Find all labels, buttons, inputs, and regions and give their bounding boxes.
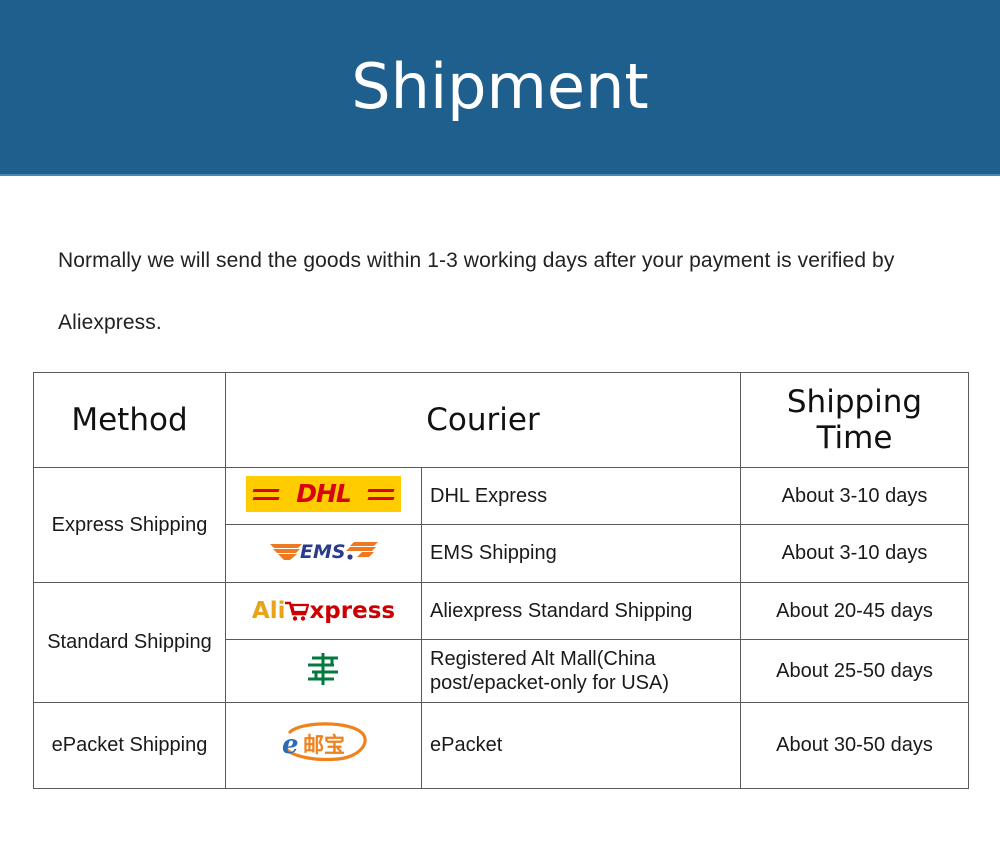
courier-name: Registered Alt Mall(China post/epacket-o…	[422, 640, 741, 703]
china-post-logo-cell	[226, 640, 422, 703]
shopping-cart-icon	[285, 600, 309, 622]
shipping-time: About 3-10 days	[741, 468, 969, 525]
page-title: Shipment	[351, 56, 648, 118]
method-express-shipping: Express Shipping	[34, 468, 226, 583]
table-row: Express Shipping DHL DHL Express About 3…	[34, 468, 969, 525]
aliexpress-logo-cell: Ali xpress	[226, 583, 422, 640]
column-header-method: Method	[34, 373, 226, 468]
method-epacket-shipping: ePacket Shipping	[34, 703, 226, 789]
page-banner: Shipment	[0, 0, 1000, 176]
method-standard-shipping: Standard Shipping	[34, 583, 226, 703]
shipping-time: About 25-50 days	[741, 640, 969, 703]
china-post-logo	[302, 649, 346, 689]
china-post-icon	[302, 649, 346, 689]
epacket-logo: e 邮宝	[272, 719, 376, 767]
dhl-logo-text: DHL	[246, 476, 401, 512]
dhl-logo: DHL	[246, 476, 401, 512]
svg-text:邮宝: 邮宝	[303, 733, 345, 757]
ems-logo-icon: EMS	[268, 536, 380, 566]
ems-logo-cell: EMS	[226, 525, 422, 583]
courier-name: ePacket	[422, 703, 741, 789]
ems-logo: EMS	[268, 536, 380, 566]
epacket-icon: e 邮宝	[272, 719, 376, 767]
courier-name: EMS Shipping	[422, 525, 741, 583]
shipping-methods-table: Method Courier Shipping Time Express Shi…	[33, 372, 969, 789]
intro-paragraph: Normally we will send the goods within 1…	[0, 176, 1000, 354]
svg-text:e: e	[282, 730, 299, 760]
table-header-row: Method Courier Shipping Time	[34, 373, 969, 468]
table-row: Standard Shipping Ali xpress Aliexpress …	[34, 583, 969, 640]
shipping-time: About 3-10 days	[741, 525, 969, 583]
aliexpress-logo: Ali xpress	[252, 600, 395, 623]
aliexpress-logo-text-ali: Ali	[252, 598, 286, 624]
shipping-time: About 20-45 days	[741, 583, 969, 640]
courier-name: Aliexpress Standard Shipping	[422, 583, 741, 640]
column-header-shipping-time: Shipping Time	[741, 373, 969, 468]
svg-text:EMS: EMS	[300, 541, 346, 563]
shipping-time: About 30-50 days	[741, 703, 969, 789]
dhl-logo-cell: DHL	[226, 468, 422, 525]
table-row: ePacket Shipping e 邮宝 ePacket About 30-5…	[34, 703, 969, 789]
aliexpress-logo-text-xpress: xpress	[309, 598, 395, 624]
column-header-courier: Courier	[226, 373, 741, 468]
shipping-table-container: Method Courier Shipping Time Express Shi…	[0, 354, 1000, 789]
courier-name: DHL Express	[422, 468, 741, 525]
epacket-logo-cell: e 邮宝	[226, 703, 422, 789]
